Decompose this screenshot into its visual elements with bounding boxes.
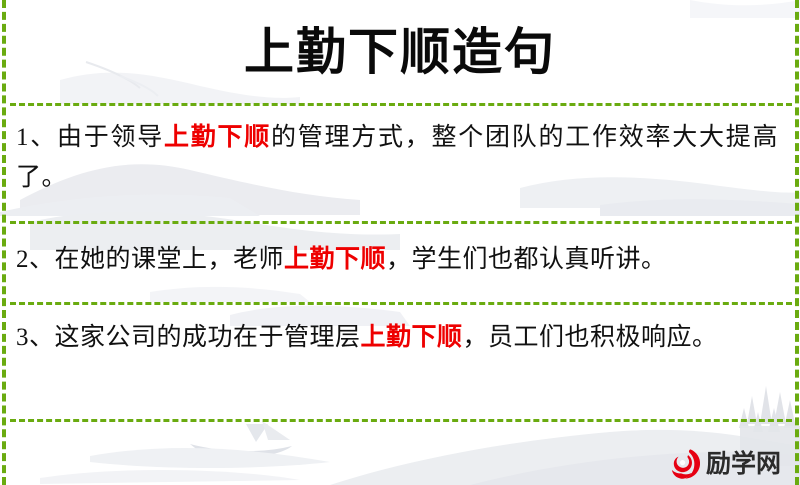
sentence-2-before: 在她的课堂上，老师 [55, 246, 285, 273]
divider-2 [10, 221, 792, 224]
sentence-2-idiom: 上勤下顺 [284, 246, 386, 273]
sentence-3-idiom: 上勤下顺 [361, 324, 463, 351]
sentence-item-2: 2、在她的课堂上，老师上勤下顺，学生们也都认真听讲。 [16, 240, 778, 280]
divider-4 [10, 419, 792, 422]
flame-swirl-icon [668, 447, 702, 481]
sentence-2-index: 2、 [16, 246, 55, 273]
sentence-1-index: 1、 [16, 124, 57, 151]
sentence-item-3: 3、这家公司的成功在于管理层上勤下顺，员工们也积极响应。 [16, 318, 778, 358]
page-title: 上勤下顺造句 [244, 27, 556, 77]
title-band: 上勤下顺造句 [0, 0, 800, 103]
divider-3 [10, 302, 792, 305]
sentence-2-after: ，学生们也都认真听讲。 [386, 246, 667, 273]
sentence-3-index: 3、 [16, 324, 55, 351]
sentence-1-idiom: 上勤下顺 [164, 124, 271, 151]
sentence-3-after: ，员工们也积极响应。 [463, 324, 718, 351]
sentence-1-before: 由于领导 [57, 124, 164, 151]
logo-text: 励学网 [706, 452, 781, 477]
sentence-3-before: 这家公司的成功在于管理层 [55, 324, 361, 351]
divider-1 [10, 103, 792, 106]
sentence-item-1: 1、由于领导上勤下顺的管理方式，整个团队的工作效率大大提高了。 [16, 118, 778, 198]
document-page: 上勤下顺造句 1、由于领导上勤下顺的管理方式，整个团队的工作效率大大提高了。 2… [0, 0, 800, 485]
site-logo[interactable]: 励学网 [668, 446, 781, 482]
